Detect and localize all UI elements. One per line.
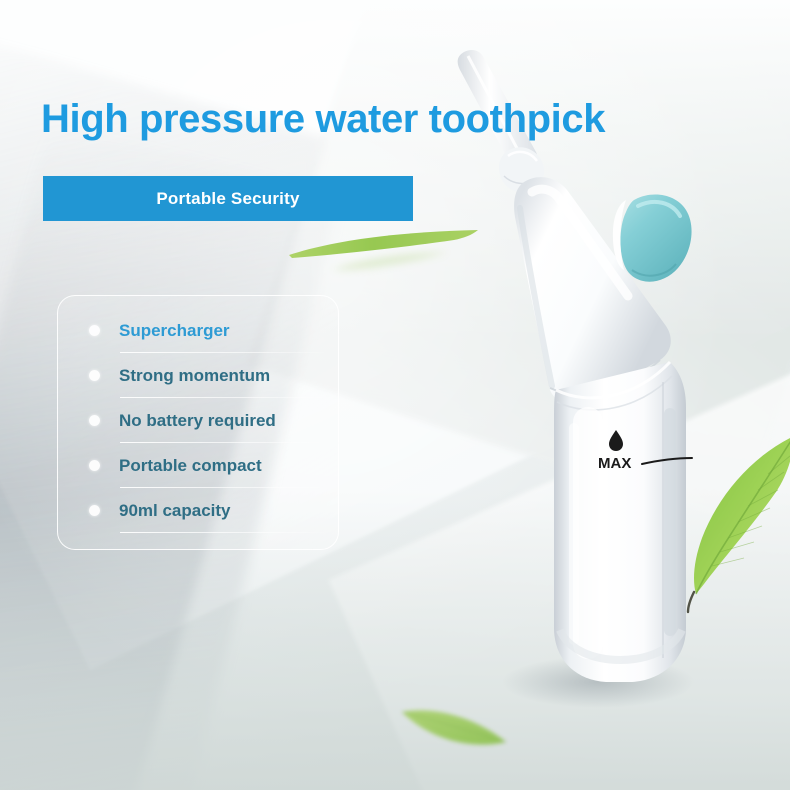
feature-label: Strong momentum [119,366,270,386]
feature-item-portable-compact: Portable compact [58,443,338,488]
bullet-dot-icon [89,415,100,426]
feature-list-card: Supercharger Strong momentum No battery … [57,295,339,550]
feature-item-strong-momentum: Strong momentum [58,353,338,398]
subtitle-banner-label: Portable Security [156,189,299,209]
feature-label: Portable compact [119,456,262,476]
bullet-dot-icon [89,370,100,381]
product-poster: MAX High pressure water toothpick Portab… [0,0,790,790]
subtitle-banner: Portable Security [43,176,413,221]
feature-item-no-battery-required: No battery required [58,398,338,443]
bullet-dot-icon [89,460,100,471]
feature-label: Supercharger [119,321,230,341]
page-title: High pressure water toothpick [41,97,605,142]
feature-divider [120,532,324,533]
feature-item-90ml-capacity: 90ml capacity [58,488,338,533]
feature-item-supercharger: Supercharger [58,308,338,353]
bullet-dot-icon [89,505,100,516]
svg-text:MAX: MAX [598,455,631,472]
bullet-dot-icon [89,325,100,336]
feature-label: No battery required [119,411,276,431]
feature-label: 90ml capacity [119,501,231,521]
